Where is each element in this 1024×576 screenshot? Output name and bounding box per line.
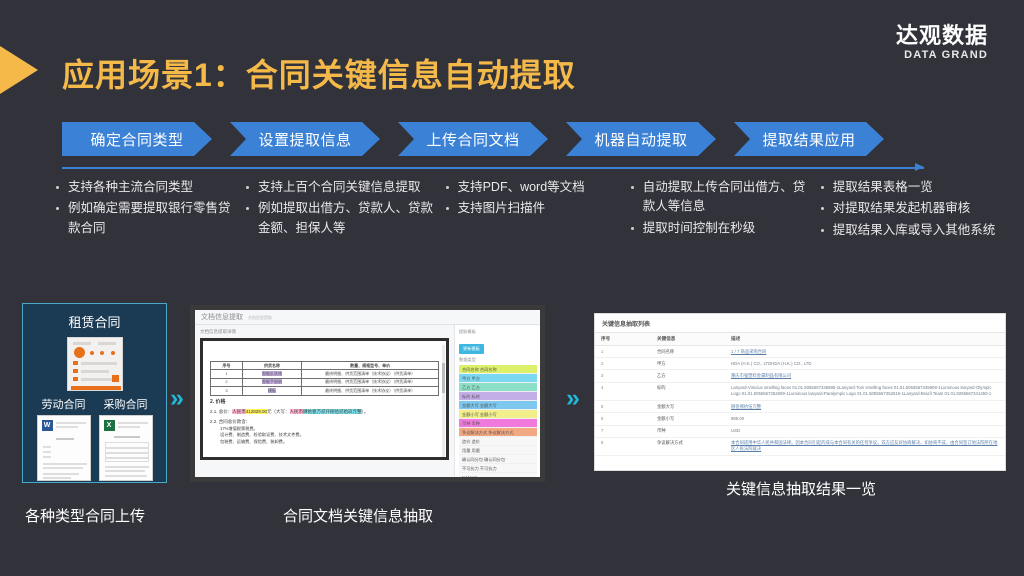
swatch-item[interactable]: 不可抗力 不可抗力 <box>459 464 537 473</box>
cell-no: 3 <box>595 370 651 382</box>
sub-contract-row: 劳动合同 W 采购合同 X <box>23 396 166 481</box>
swatch-item[interactable]: 争议解决方式 争议解决方式 <box>459 428 537 437</box>
bullet-columns: 支持各种主流合同类型 例如确定需要提取银行零售贷款合同 支持上百个合同关键信息提… <box>54 178 1004 242</box>
cell-desc: 重庆市强塑料金属制品有限公司 <box>725 370 1005 382</box>
swatch-item[interactable]: 币种 币种 <box>459 419 537 428</box>
extraction-app-window: 文档信息提取 文档信息提取 文档信息提取详情 序号 供货名称 数量、规格型号、单… <box>195 310 540 477</box>
cell-desc: 最终明细、供货范围清单（技术协议）（供货清单） <box>302 378 439 386</box>
upload-panel-title: 租赁合同 <box>23 312 166 331</box>
table-row: 1 智能反洗钱 最终明细、供货范围清单（技术协议）（供货清单） <box>211 370 439 378</box>
chevron-right-icon-1: » <box>170 386 184 411</box>
cell-key: 合同名称 <box>651 346 725 358</box>
caption-upload: 各种类型合同上传 <box>25 505 145 526</box>
extraction-app-header: 文档信息提取 文档信息提取 <box>195 310 540 325</box>
word-icon: W <box>42 420 53 431</box>
caption-result: 关键信息抽取结果一览 <box>726 478 876 499</box>
table-row[interactable]: 7 币种 USD <box>595 425 1005 437</box>
extraction-app-subtitle: 文档信息提取 <box>248 315 272 321</box>
table-row[interactable]: 1 合同名称 1 / 7 商品采购合同 <box>595 346 1005 358</box>
cell-no: 1 <box>211 370 243 378</box>
result-table: 序号 关键信息 描述 1 合同名称 1 / 7 商品采购合同 2 甲方 HDA … <box>595 332 1005 456</box>
datatype-label: 数据类型 <box>459 357 537 363</box>
th-no: 序号 <box>211 362 243 370</box>
cell-no: 6 <box>595 413 651 425</box>
document-frame: 序号 供货名称 数量、规格型号、单价 1 智能反洗钱 最终明细、供货范围清单（技… <box>200 338 449 460</box>
bullet-item: 支持PDF、word等文档 <box>444 178 621 197</box>
cell-desc: 1 / 7 商品采购合同 <box>725 346 1005 358</box>
step-2[interactable]: 设置提取信息 <box>230 122 380 156</box>
document-price-line: 2.1. 总价：人民币412829.00元（大写：人民币肆拾壹万贰仟捌佰贰拾玖元… <box>210 409 439 416</box>
table-row[interactable]: 4 标的 Lanyard-Vinicius smelling faces 01.… <box>595 382 1005 400</box>
highlight-purple: 智能手册册 <box>262 379 282 384</box>
sub-contract-excel: 采购合同 X <box>99 396 153 481</box>
highlight-pink: 人民币 <box>232 409 246 414</box>
extraction-pane-label: 文档信息提取详情 <box>200 329 449 335</box>
swatch-item[interactable]: 用量 用量 <box>459 446 537 455</box>
document-page[interactable]: 序号 供货名称 数量、规格型号、单价 1 智能反洗钱 最终明细、供货范围清单（技… <box>203 341 446 457</box>
bullet-column-1: 支持各种主流合同类型 例如确定需要提取银行零售贷款合同 <box>54 178 236 242</box>
document-scrollbar[interactable] <box>442 345 445 457</box>
bullet-item: 提取时间控制在秒级 <box>629 219 811 238</box>
bullet-item: 自动提取上传合同出借方、贷款人等信息 <box>629 178 811 217</box>
swatch-list: 合同名称 合同名称 甲方 甲方 乙方 乙方 标的 标的 金额大写 金额大写 金额… <box>459 365 537 477</box>
cell-desc: 本合同适用中华人民共和国法律。因本合同引起的或与本合同有关的任何争议，双方应友好… <box>725 437 1005 455</box>
title-arrow-icon <box>0 46 38 94</box>
swatch-item[interactable]: 甲方 甲方 <box>459 374 537 383</box>
swatch-item[interactable]: 标的 标的 <box>459 392 537 401</box>
extraction-template-pane: 提取模板 更新模板 数据类型 合同名称 合同名称 甲方 甲方 乙方 乙方 标的 … <box>454 325 540 477</box>
swatch-item[interactable]: 金额小写 金额小写 <box>459 410 537 419</box>
step-3-label: 上传合同文档 <box>426 129 519 150</box>
cell-key: 币种 <box>651 425 725 437</box>
table-row: 3 模板 最终明细、供货范围清单（技术协议）（供货清单） <box>211 387 439 395</box>
bullet-item: 对提取结果发起机器审核 <box>819 199 996 218</box>
slide-root: 达观数据 DATA GRAND 应用场景1：合同关键信息自动提取 确定合同类型 … <box>0 0 1024 576</box>
table-row[interactable]: 8 争议解决方式 本合同适用中华人民共和国法律。因本合同引起的或与本合同有关的任… <box>595 437 1005 455</box>
logo-chinese: 达观数据 <box>896 24 988 47</box>
cell-desc: Lanyard-Vinicius smelling faces 01.01.50… <box>725 382 1005 400</box>
swatch-item[interactable]: test test <box>459 473 537 477</box>
price-suffix: ）。 <box>362 409 369 414</box>
flow-arrow <box>62 163 924 172</box>
extraction-app-body: 文档信息提取详情 序号 供货名称 数量、规格型号、单价 1 <box>195 325 540 477</box>
bullet-item: 提取结果表格一览 <box>819 178 996 197</box>
cell-desc: 最终明细、供货范围清单（技术协议）（供货清单） <box>302 387 439 395</box>
logo-english: DATA GRAND <box>896 49 988 61</box>
process-steps: 确定合同类型 设置提取信息 上传合同文档 机器自动提取 提取结果应用 <box>62 122 902 156</box>
step-4-label: 机器自动提取 <box>594 129 687 150</box>
table-row[interactable]: 3 乙方 重庆市强塑料金属制品有限公司 <box>595 370 1005 382</box>
cell-no: 8 <box>595 437 651 455</box>
step-1[interactable]: 确定合同类型 <box>62 122 212 156</box>
cell-key: 金额大写 <box>651 401 725 413</box>
step-5[interactable]: 提取结果应用 <box>734 122 884 156</box>
document-section-title: 2. 价格 <box>210 399 439 407</box>
sub-contract-word: 劳动合同 W <box>37 396 91 481</box>
th-desc: 数量、规格型号、单价 <box>302 362 439 370</box>
bullet-item: 例如提取出借方、贷款人、贷款金额、担保人等 <box>244 199 436 238</box>
cell-desc-link[interactable]: 重庆市强塑料金属制品有限公司 <box>731 373 791 378</box>
cell-desc: 捌佰捌拾伍元整 <box>725 401 1005 413</box>
bullet-column-3: 支持PDF、word等文档 支持图片扫描件 <box>444 178 621 242</box>
cell-key: 争议解决方式 <box>651 437 725 455</box>
highlight-cyan-words: 肆拾壹万贰仟捌佰贰拾玖元整 <box>303 409 362 414</box>
cell-desc: HDA (H.K.) CO., LTDHDA (H.K.) CO., LTD <box>725 358 1005 370</box>
document-check-3: 包装费、运输费、保险费、装卸费。 <box>220 439 439 446</box>
cell-name: 智能手册册 <box>242 378 301 386</box>
purchase-contract-thumbnail[interactable]: X <box>99 415 153 481</box>
lease-contract-thumbnail[interactable] <box>67 337 123 391</box>
excel-icon: X <box>104 420 115 431</box>
result-panel-title: 关键信息抽取列表 <box>595 314 1005 332</box>
rth-no: 序号 <box>595 333 651 346</box>
table-header-row: 序号 供货名称 数量、规格型号、单价 <box>211 362 439 370</box>
document-check-2: 设计费、制造费、检验取证费、技术文件费。 <box>220 432 439 439</box>
cell-no: 1 <box>595 346 651 358</box>
cell-key: 乙方 <box>651 370 725 382</box>
highlight-yellow-amount: 412829.00 <box>246 409 267 414</box>
cell-desc: USD <box>725 425 1005 437</box>
bullet-item: 支持各种主流合同类型 <box>54 178 236 197</box>
extraction-document-pane: 文档信息提取详情 序号 供货名称 数量、规格型号、单价 1 <box>195 325 454 477</box>
cell-no: 2 <box>595 358 651 370</box>
cell-no: 3 <box>211 387 243 395</box>
labor-contract-thumbnail[interactable]: W <box>37 415 91 481</box>
table-row[interactable]: 6 金额小写 885.00 <box>595 413 1005 425</box>
cell-desc: 最终明细、供货范围清单（技术协议）（供货清单） <box>302 370 439 378</box>
sub-contract-word-label: 劳动合同 <box>37 396 91 412</box>
swatch-item[interactable]: 金额大写 金额大写 <box>459 401 537 410</box>
update-template-button[interactable]: 更新模板 <box>459 344 484 354</box>
table-row[interactable]: 5 金额大写 捌佰捌拾伍元整 <box>595 401 1005 413</box>
bullet-column-2: 支持上百个合同关键信息提取 例如提取出借方、贷款人、贷款金额、担保人等 <box>244 178 436 242</box>
bullet-item: 支持上百个合同关键信息提取 <box>244 178 436 197</box>
cell-desc: 885.00 <box>725 413 1005 425</box>
highlight-purple: 智能反洗钱 <box>262 371 282 376</box>
template-label: 提取模板 <box>459 329 537 335</box>
cell-no: 7 <box>595 425 651 437</box>
document-table: 序号 供货名称 数量、规格型号、单价 1 智能反洗钱 最终明细、供货范围清单（技… <box>210 361 439 396</box>
result-header-row: 序号 关键信息 描述 <box>595 333 1005 346</box>
upload-panel: 租赁合同 劳动合同 W <box>22 303 167 483</box>
table-row: 2 智能手册册 最终明细、供货范围清单（技术协议）（供货清单） <box>211 378 439 386</box>
step-2-label: 设置提取信息 <box>258 129 351 150</box>
bullet-item: 提取结果入库或导入其他系统 <box>819 221 996 240</box>
step-4[interactable]: 机器自动提取 <box>566 122 716 156</box>
swatch-item[interactable]: 合同名称 合同名称 <box>459 365 537 374</box>
caption-extract: 合同文档关键信息抽取 <box>283 505 433 526</box>
sub-contract-excel-label: 采购合同 <box>99 396 153 412</box>
flow-arrow-head-icon <box>915 163 924 171</box>
flow-arrow-bar <box>62 167 924 169</box>
page-title: 应用场景1：合同关键信息自动提取 <box>62 50 576 96</box>
price-prefix: 2.1. 总价： <box>210 409 232 414</box>
cell-no: 4 <box>595 382 651 400</box>
cell-no: 2 <box>211 378 243 386</box>
swatch-item[interactable]: 乙方 乙方 <box>459 383 537 392</box>
result-screenshot-panel: 关键信息抽取列表 序号 关键信息 描述 1 合同名称 1 / 7 商品采购合同 … <box>594 313 1006 471</box>
chevron-right-icon-2: » <box>566 386 580 411</box>
price-mid: 元（大写： <box>267 409 290 414</box>
extraction-app-title: 文档信息提取 <box>201 312 243 322</box>
bullet-column-4: 自动提取上传合同出借方、贷款人等信息 提取时间控制在秒级 <box>629 178 811 242</box>
cell-name: 智能反洗钱 <box>242 370 301 378</box>
cell-key: 标的 <box>651 382 725 400</box>
highlight-pink-2: 人民币 <box>290 409 304 414</box>
cell-desc-link[interactable]: 本合同适用中华人民共和国法律。因本合同引起的或与本合同有关的任何争议，双方应友好… <box>731 440 997 451</box>
cell-desc-link[interactable]: 捌佰捌拾伍元整 <box>731 404 761 409</box>
bullet-column-5: 提取结果表格一览 对提取结果发起机器审核 提取结果入库或导入其他系统 <box>819 178 996 242</box>
bullet-item: 例如确定需要提取银行零售贷款合同 <box>54 199 236 238</box>
step-3[interactable]: 上传合同文档 <box>398 122 548 156</box>
highlight-purple: 模板 <box>268 388 276 393</box>
swatch-item[interactable]: 确认同分包 确认同分包 <box>459 455 537 464</box>
step-1-label: 确定合同类型 <box>90 129 183 150</box>
cell-desc-link[interactable]: 1 / 7 商品采购合同 <box>731 349 766 354</box>
extraction-screenshot-panel: 文档信息提取 文档信息提取 文档信息提取详情 序号 供货名称 数量、规格型号、单… <box>190 305 545 482</box>
cell-no: 5 <box>595 401 651 413</box>
bullet-item: 支持图片扫描件 <box>444 199 621 218</box>
table-row[interactable]: 2 甲方 HDA (H.K.) CO., LTDHDA (H.K.) CO., … <box>595 358 1005 370</box>
document-include-line: 2.2. 合同总价款含： <box>210 419 439 426</box>
cell-name: 模板 <box>242 387 301 395</box>
rth-desc: 描述 <box>725 333 1005 346</box>
cell-key: 金额小写 <box>651 413 725 425</box>
thumbnail-logo-icon <box>74 347 85 358</box>
th-name: 供货名称 <box>242 362 301 370</box>
cell-key: 甲方 <box>651 358 725 370</box>
rth-key: 关键信息 <box>651 333 725 346</box>
brand-logo: 达观数据 DATA GRAND <box>896 24 988 61</box>
step-5-label: 提取结果应用 <box>762 129 855 150</box>
swatch-item[interactable]: 造价 造价 <box>459 437 537 446</box>
